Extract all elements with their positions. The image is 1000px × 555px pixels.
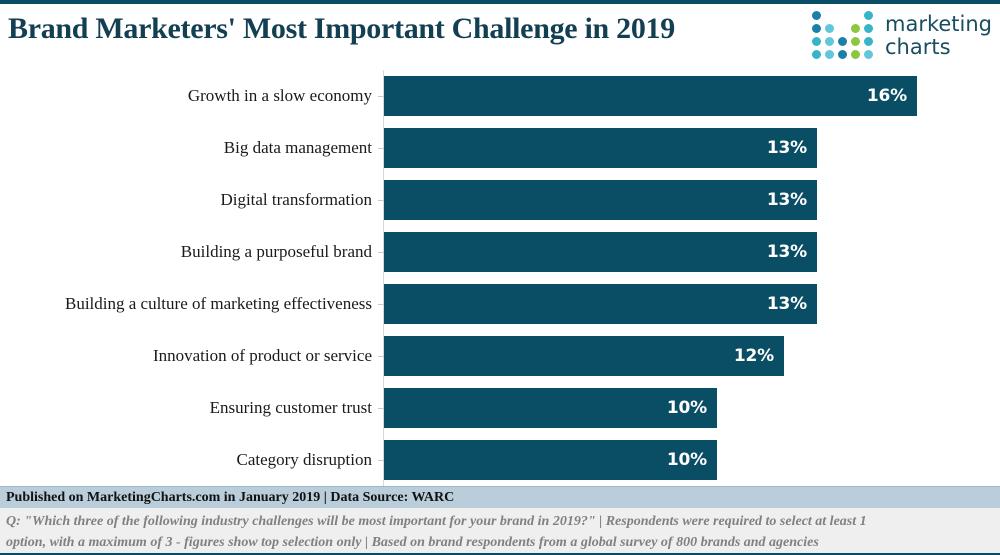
bar[interactable]: 10% [384,440,717,480]
bar-value-label: 13% [767,138,817,158]
chart-page: Brand Marketers' Most Important Challeng… [0,0,1000,555]
bar-row: Ensuring customer trust10% [0,382,1000,434]
logo-dot-0-3 [851,11,860,20]
logo-dot-2-4 [864,37,873,46]
bar[interactable]: 13% [384,128,817,168]
bar[interactable]: 12% [384,336,784,376]
logo-dot-3-3 [851,50,860,59]
bar-value-label: 13% [767,294,817,314]
bar-value-label: 13% [767,242,817,262]
category-label: Big data management [0,138,372,158]
bar[interactable]: 13% [384,180,817,220]
bar-value-label: 13% [767,190,817,210]
logo-wordmark: marketing charts [885,13,992,59]
bar[interactable]: 13% [384,284,817,324]
category-label: Innovation of product or service [0,346,372,366]
note-line-2: option, with a maximum of 3 - figures sh… [6,532,994,553]
logo-dot-0-0 [812,11,821,20]
logo-dot-grid [812,11,875,61]
logo-dot-2-2 [838,37,847,46]
category-label: Category disruption [0,450,372,470]
logo-dot-3-1 [825,50,834,59]
logo-dot-1-1 [825,24,834,33]
logo-dot-1-2 [838,24,847,33]
logo-dot-3-2 [838,50,847,59]
note-line-1: Q: "Which three of the following industr… [6,511,994,532]
bar[interactable]: 16% [384,76,917,116]
bar-row: Building a culture of marketing effectiv… [0,278,1000,330]
logo-dot-2-0 [812,37,821,46]
category-label: Building a purposeful brand [0,242,372,262]
published-text: Published on MarketingCharts.com in Janu… [6,490,454,506]
bar-value-label: 12% [734,346,784,366]
category-label: Ensuring customer trust [0,398,372,418]
logo-dot-1-4 [864,24,873,33]
logo-dot-1-0 [812,24,821,33]
bar-value-label: 10% [667,450,717,470]
category-label: Building a culture of marketing effectiv… [0,294,372,314]
chart-footer: Published on MarketingCharts.com in Janu… [0,486,1000,555]
logo-dot-0-1 [825,11,834,20]
logo-line-1: marketing [885,12,992,36]
bar-value-label: 10% [667,398,717,418]
bar-row: Building a purposeful brand13% [0,226,1000,278]
page-title: Brand Marketers' Most Important Challeng… [8,12,675,46]
bar-value-label: 16% [867,86,917,106]
bar-chart-plot: Growth in a slow economy16%Big data mana… [0,70,1000,486]
logo-dot-3-0 [812,50,821,59]
bar-row: Innovation of product or service12% [0,330,1000,382]
category-label: Growth in a slow economy [0,86,372,106]
bar-row: Digital transformation13% [0,174,1000,226]
logo-dot-2-3 [851,37,860,46]
marketingcharts-logo: marketing charts [812,10,992,62]
published-band: Published on MarketingCharts.com in Janu… [0,486,1000,508]
bar-row: Growth in a slow economy16% [0,70,1000,122]
logo-dot-1-3 [851,24,860,33]
bar-row: Category disruption10% [0,434,1000,486]
bar-row: Big data management13% [0,122,1000,174]
chart-header: Brand Marketers' Most Important Challeng… [0,4,1000,68]
note-band: Q: "Which three of the following industr… [0,508,1000,555]
bar[interactable]: 10% [384,388,717,428]
logo-dot-2-1 [825,37,834,46]
category-label: Digital transformation [0,190,372,210]
bar[interactable]: 13% [384,232,817,272]
logo-line-2: charts [885,36,992,59]
logo-dot-0-4 [864,11,873,20]
logo-dot-3-4 [864,50,873,59]
logo-dot-0-2 [838,11,847,20]
